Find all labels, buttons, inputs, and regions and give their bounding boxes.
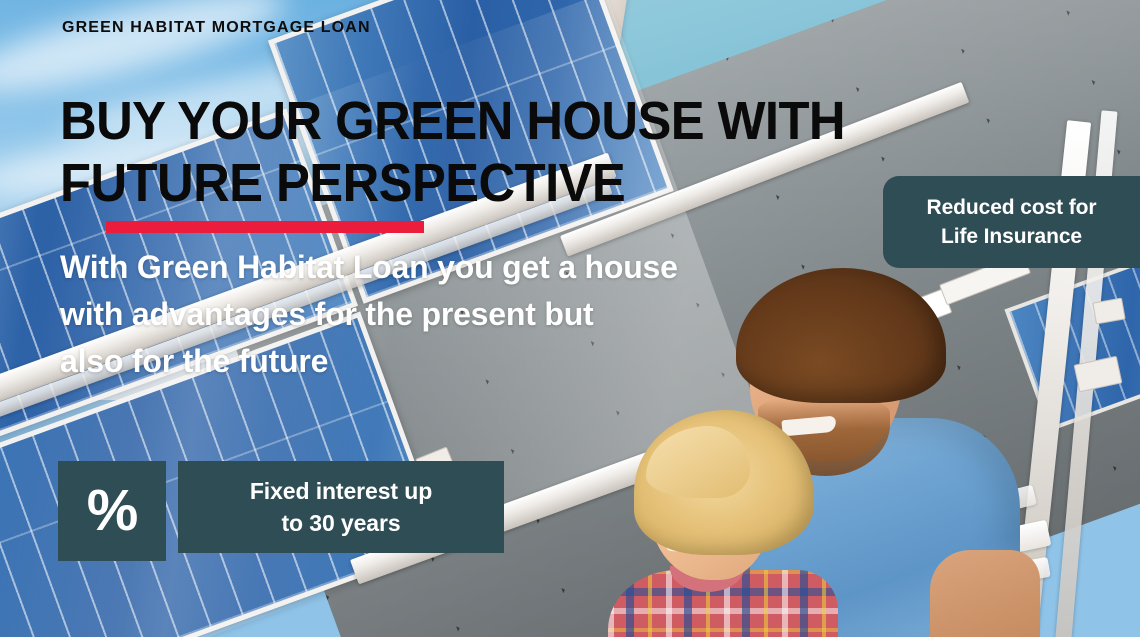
- subheadline-line-2: with advantages for the present but: [60, 291, 800, 338]
- promo-banner: GREEN HABITAT MORTGAGE LOAN BUY YOUR GRE…: [0, 0, 1140, 637]
- badge-fixed-interest-line-1: Fixed interest up: [250, 475, 432, 507]
- red-accent-rule: [106, 221, 424, 233]
- banner-content: GREEN HABITAT MORTGAGE LOAN BUY YOUR GRE…: [0, 0, 1140, 637]
- badge-percent-symbol[interactable]: %: [58, 461, 166, 561]
- badge-life-insurance[interactable]: Reduced cost for Life Insurance: [883, 176, 1140, 268]
- subheadline-line-1: With Green Habitat Loan you get a house: [60, 244, 800, 291]
- headline-line-1: BUY YOUR GREEN HOUSE WITH: [60, 90, 906, 152]
- headline-line-2: FUTURE PERSPECTIVE: [60, 152, 906, 214]
- percent-icon: %: [87, 482, 138, 540]
- subheadline-line-3: also for the future: [60, 338, 800, 385]
- badge-life-insurance-line-1: Reduced cost for: [927, 193, 1097, 222]
- badge-fixed-interest-line-2: to 30 years: [250, 507, 432, 539]
- badge-life-insurance-text: Reduced cost for Life Insurance: [927, 193, 1097, 251]
- subheadline: With Green Habitat Loan you get a house …: [60, 244, 800, 385]
- badge-life-insurance-line-2: Life Insurance: [927, 222, 1097, 251]
- badge-fixed-interest[interactable]: Fixed interest up to 30 years: [178, 461, 504, 553]
- page-title: BUY YOUR GREEN HOUSE WITH FUTURE PERSPEC…: [60, 90, 906, 214]
- product-eyebrow-label: GREEN HABITAT MORTGAGE LOAN: [62, 19, 371, 37]
- badge-fixed-interest-text: Fixed interest up to 30 years: [250, 475, 432, 539]
